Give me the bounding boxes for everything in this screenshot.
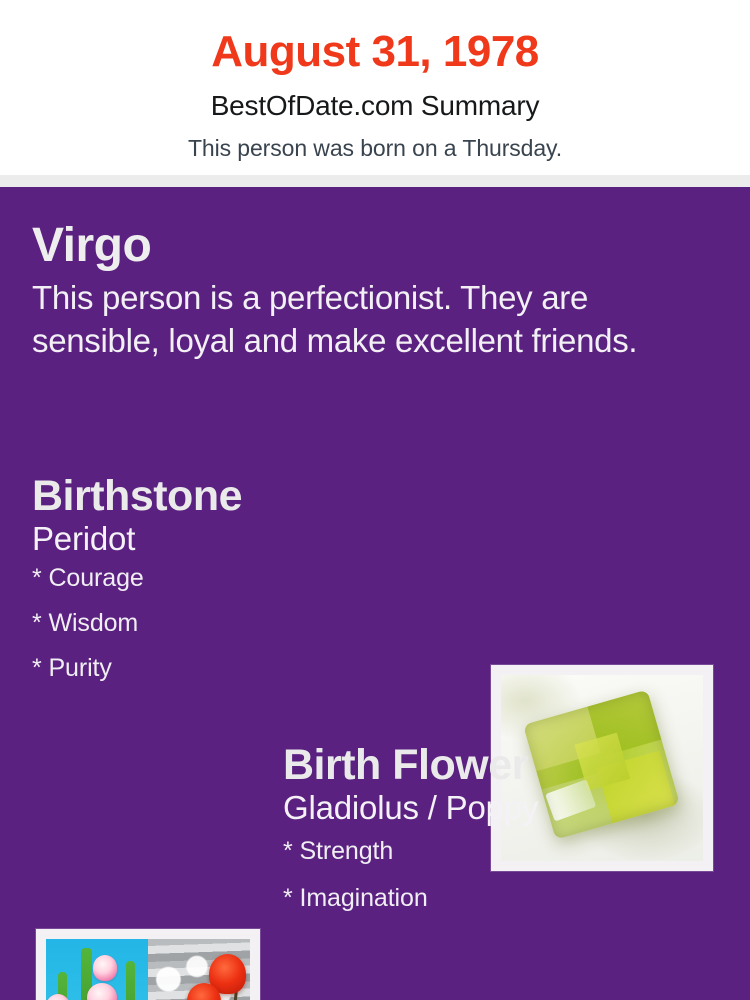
list-item: * Purity — [32, 656, 452, 681]
list-item: * Wisdom — [32, 611, 452, 636]
list-item: * Imagination — [283, 886, 713, 911]
list-item: * Courage — [32, 566, 452, 591]
birthstone-heading: Birthstone — [32, 475, 452, 519]
zodiac-sign-name: Virgo — [32, 221, 692, 271]
content-panel: Virgo This person is a perfectionist. Th… — [0, 187, 750, 1000]
header-divider — [0, 175, 750, 187]
list-item: * Strength — [283, 839, 713, 864]
summary-page: August 31, 1978 BestOfDate.com Summary T… — [0, 0, 750, 1000]
page-header: August 31, 1978 BestOfDate.com Summary T… — [0, 0, 750, 175]
gladiolus-bloom — [93, 955, 117, 981]
birthstone-name: Peridot — [32, 521, 452, 557]
birthflower-section: Birth Flower Gladiolus / Poppy * Strengt… — [283, 744, 713, 933]
birthstone-traits-list: * Courage * Wisdom * Purity — [32, 566, 452, 681]
birthflower-traits-list: * Strength * Imagination — [283, 839, 713, 911]
site-summary-label: BestOfDate.com Summary — [0, 74, 750, 120]
flower-composite — [46, 939, 250, 1000]
birthflower-image-frame — [36, 929, 260, 1000]
birthstone-section: Birthstone Peridot * Courage * Wisdom * … — [32, 475, 452, 701]
zodiac-section: Virgo This person is a perfectionist. Th… — [32, 221, 692, 363]
page-title-date: August 31, 1978 — [0, 0, 750, 74]
birthflower-name: Gladiolus / Poppy — [283, 790, 713, 826]
born-weekday-text: This person was born on a Thursday. — [0, 120, 750, 160]
gladiolus-photo-icon — [46, 939, 148, 1000]
zodiac-description: This person is a perfectionist. They are… — [32, 277, 692, 363]
flower-stalk — [126, 961, 135, 1000]
poppy-photo-icon — [148, 939, 250, 1000]
gladiolus-bloom — [87, 983, 118, 1000]
birthflower-heading: Birth Flower — [283, 744, 713, 788]
birthflower-image — [46, 939, 250, 1000]
